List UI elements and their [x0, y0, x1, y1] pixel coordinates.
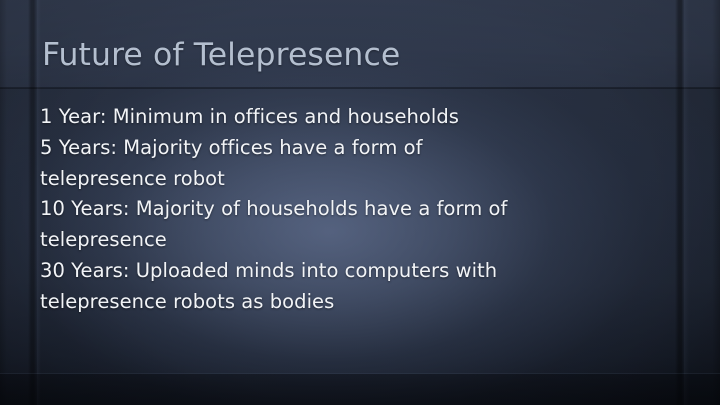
body-line: 30 Years: Uploaded minds into computers …	[40, 256, 660, 287]
footer-band-divider	[0, 373, 720, 374]
body-line: 1 Year: Minimum in offices and household…	[40, 102, 660, 133]
body-line: telepresence robot	[40, 164, 660, 195]
slide-body: 1 Year: Minimum in offices and household…	[40, 102, 660, 318]
body-line: telepresence	[40, 225, 660, 256]
right-vertical-highlight	[684, 0, 689, 405]
left-vertical-stripe	[28, 0, 37, 405]
slide-canvas: Future of Telepresence 1 Year: Minimum i…	[0, 0, 720, 405]
body-line: 5 Years: Majority offices have a form of	[40, 133, 660, 164]
body-line: 10 Years: Majority of households have a …	[40, 194, 660, 225]
left-edge-shadow	[0, 0, 7, 405]
right-edge-shadow	[712, 0, 720, 405]
body-line: telepresence robots as bodies	[40, 287, 660, 318]
slide-title: Future of Telepresence	[42, 36, 682, 74]
footer-band	[0, 374, 720, 405]
title-band-divider	[0, 87, 720, 89]
